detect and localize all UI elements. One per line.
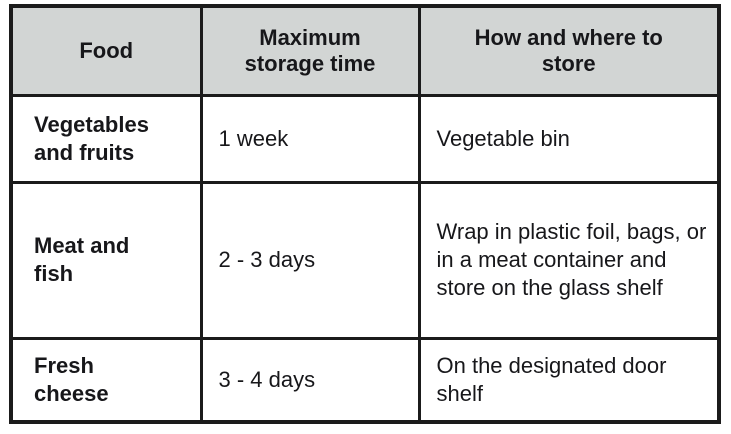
cell-food-line1: Meat and — [34, 233, 129, 258]
cell-food-line2: fish — [34, 261, 73, 286]
table-header: Food Maximum storage time How and where … — [11, 6, 719, 95]
cell-storage-time-fresh-cheese: 3 - 4 days — [201, 338, 419, 422]
column-header-food: Food — [11, 6, 201, 95]
cell-how-and-where-meat-and-fish: Wrap in plastic foil, bags, or in a meat… — [419, 182, 719, 338]
table-body: Vegetables and fruits 1 week Vegetable b… — [11, 95, 719, 422]
column-header-how-and-where-to-store: How and where to store — [419, 6, 719, 95]
cell-food-vegetables-and-fruits: Vegetables and fruits — [11, 95, 201, 182]
column-header-maximum-storage-time: Maximum storage time — [201, 6, 419, 95]
table-row: Fresh cheese 3 - 4 days On the designate… — [11, 338, 719, 422]
column-header-time-line1: Maximum — [259, 25, 360, 50]
cell-food-line2: cheese — [34, 381, 109, 406]
food-storage-table: Food Maximum storage time How and where … — [9, 4, 721, 424]
cell-food-line1: Vegetables — [34, 112, 149, 137]
column-header-time-line2: storage time — [245, 51, 376, 76]
cell-storage-time-meat-and-fish: 2 - 3 days — [201, 182, 419, 338]
table-header-row: Food Maximum storage time How and where … — [11, 6, 719, 95]
column-header-store-line1: How and where to — [475, 25, 663, 50]
cell-how-and-where-vegetables-and-fruits: Vegetable bin — [419, 95, 719, 182]
food-storage-table-container: Food Maximum storage time How and where … — [9, 4, 717, 420]
column-header-store-line2: store — [542, 51, 596, 76]
table-row: Meat and fish 2 - 3 days Wrap in plastic… — [11, 182, 719, 338]
cell-food-meat-and-fish: Meat and fish — [11, 182, 201, 338]
cell-food-fresh-cheese: Fresh cheese — [11, 338, 201, 422]
cell-how-and-where-fresh-cheese: On the designated door shelf — [419, 338, 719, 422]
cell-food-line1: Fresh — [34, 353, 94, 378]
column-header-food-label: Food — [79, 38, 133, 63]
cell-storage-time-vegetables-and-fruits: 1 week — [201, 95, 419, 182]
cell-food-line2: and fruits — [34, 140, 134, 165]
table-row: Vegetables and fruits 1 week Vegetable b… — [11, 95, 719, 182]
